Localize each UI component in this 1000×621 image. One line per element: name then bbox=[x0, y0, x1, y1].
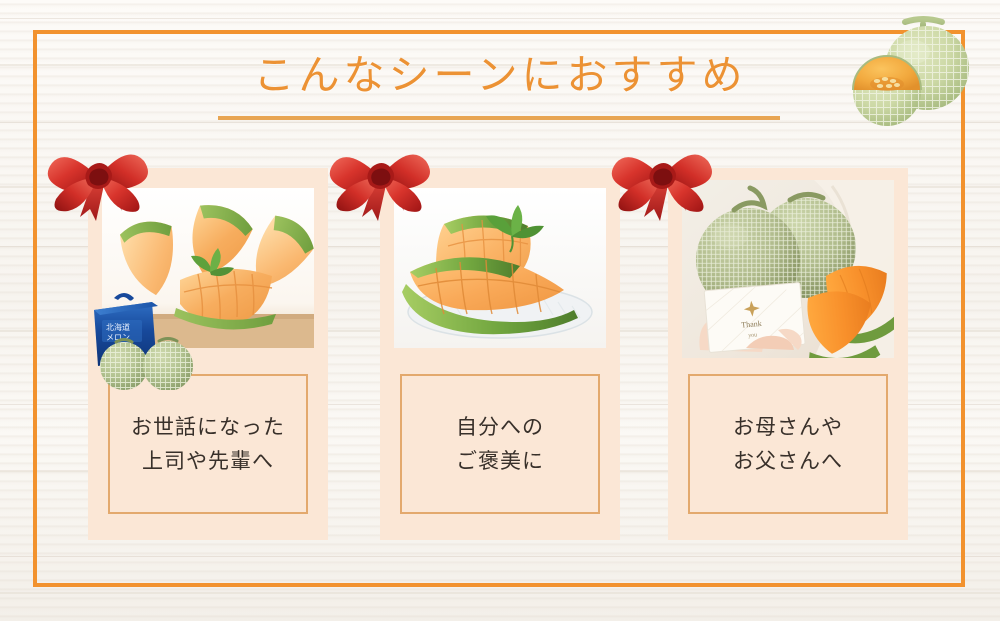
melons-with-thank-you-card-photo: Thank you bbox=[682, 180, 894, 358]
melon-gift-box-and-whole-melons: 北海道 メロン bbox=[88, 280, 218, 390]
wood-grain-line bbox=[0, 592, 1000, 594]
page-title: こんなシーンにおすすめ bbox=[254, 52, 747, 99]
card-caption-text: 自分への ご褒美に bbox=[456, 410, 544, 478]
card-caption-box: お世話になった 上司や先輩へ bbox=[108, 374, 308, 514]
melon-whole-and-half-illustration bbox=[845, 6, 995, 134]
card-caption-box: 自分への ご褒美に bbox=[400, 374, 600, 514]
scene-card[interactable]: Thank you お母さんや お父さんへ bbox=[668, 168, 908, 540]
melon-wedges-on-glass-plate-photo bbox=[394, 188, 606, 348]
scene-card[interactable]: 北海道 メロン お世話になった 上司や先輩へ bbox=[88, 168, 328, 540]
card-caption-text: お母さんや お父さんへ bbox=[733, 410, 843, 478]
svg-text:you: you bbox=[748, 332, 757, 339]
card-caption-text: お世話になった 上司や先輩へ bbox=[131, 410, 285, 478]
scene-card[interactable]: 自分への ご褒美に bbox=[380, 168, 620, 540]
scene-card-list: 北海道 メロン お世話になった 上司や先輩へ bbox=[0, 168, 1000, 540]
svg-text:北海道: 北海道 bbox=[106, 322, 130, 332]
title-underline bbox=[218, 116, 780, 120]
promo-banner: こんなシーンにおすすめ bbox=[0, 0, 1000, 621]
card-caption-box: お母さんや お父さんへ bbox=[688, 374, 888, 514]
svg-text:Thank: Thank bbox=[741, 319, 762, 330]
